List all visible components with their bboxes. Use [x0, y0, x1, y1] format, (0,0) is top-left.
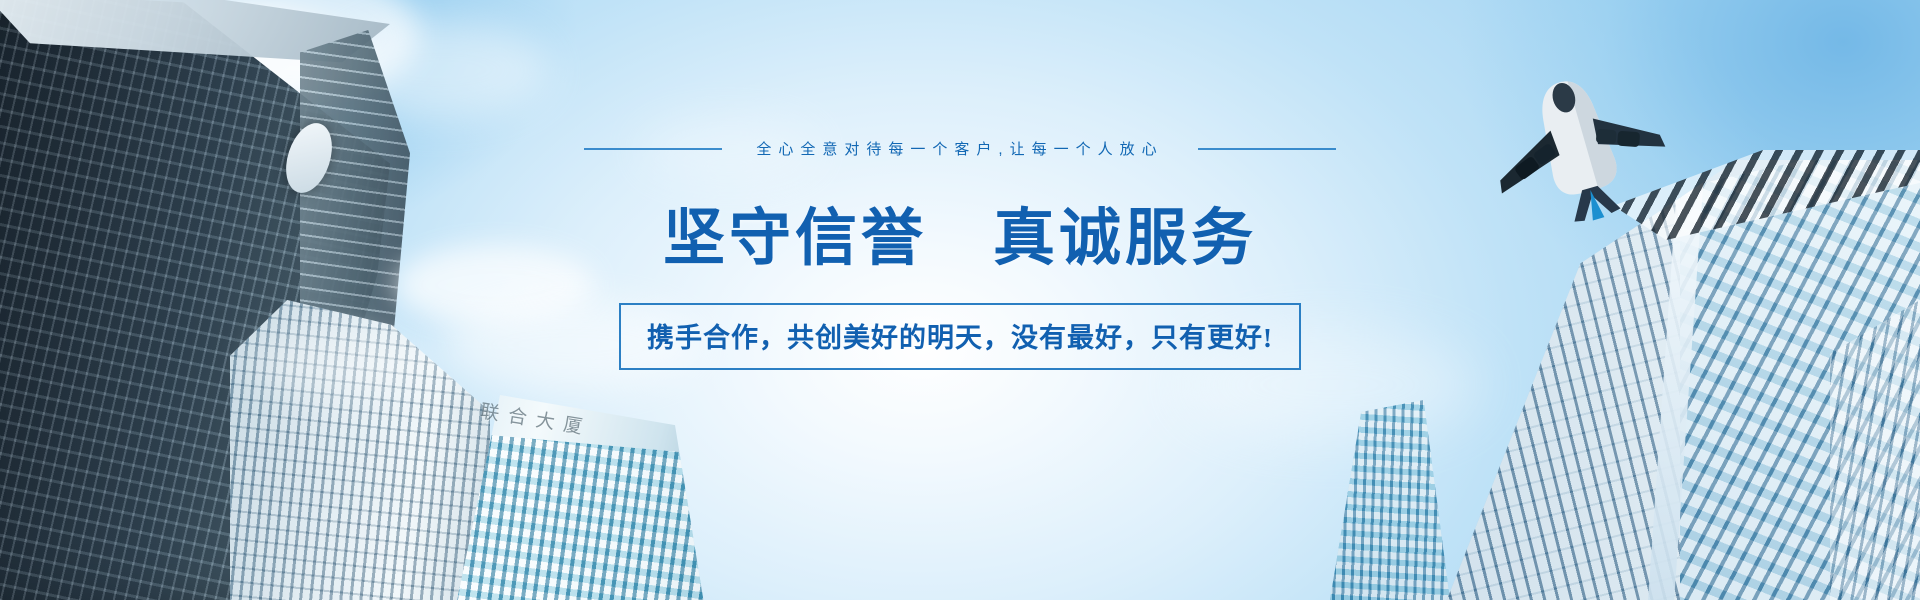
decorative-line-left — [584, 148, 722, 150]
banner-tagline: 全心全意对待每一个客户,让每一个人放心 — [756, 138, 1163, 159]
decorative-line-right — [1198, 148, 1336, 150]
banner-headline: 坚守信誉 真诚服务 — [663, 187, 1257, 277]
tagline-row: 全心全意对待每一个客户,让每一个人放心 — [584, 138, 1335, 159]
banner-subtitle-box: 携手合作，共创美好的明天，没有最好，只有更好! — [619, 303, 1301, 370]
hero-banner: 联合大厦 全心全 — [0, 0, 1920, 600]
banner-subtitle: 携手合作，共创美好的明天，没有最好，只有更好! — [647, 316, 1273, 355]
banner-content: 全心全意对待每一个客户,让每一个人放心 坚守信誉 真诚服务 携手合作，共创美好的… — [0, 0, 1920, 600]
